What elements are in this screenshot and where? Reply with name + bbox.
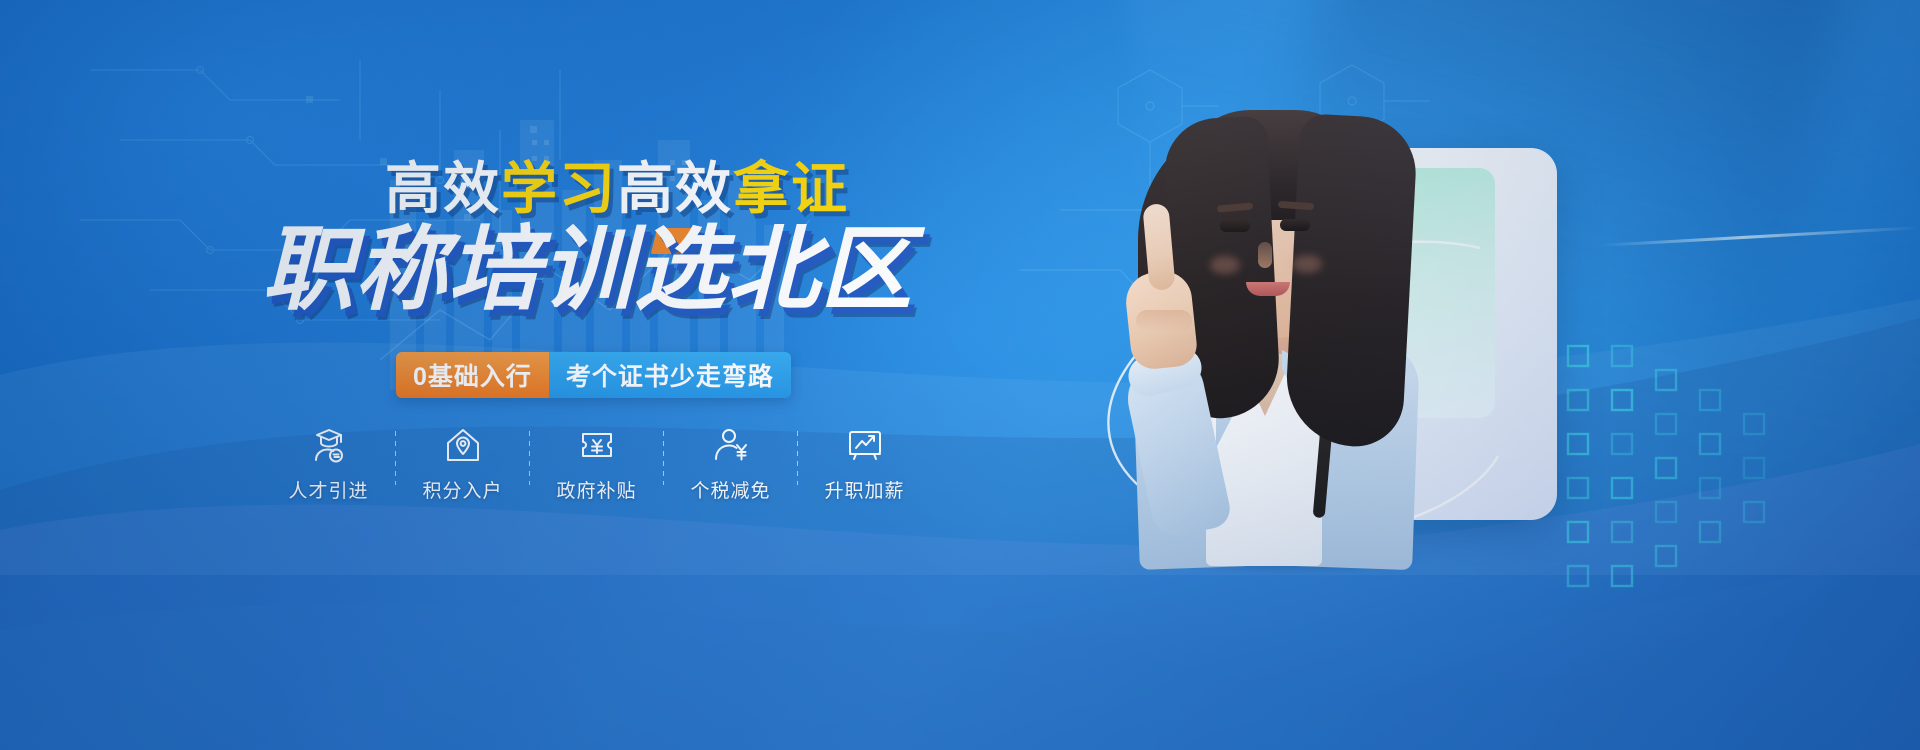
promo-banner: 高效学习高效拿证 职称培训选北区 0基础入行 考个证书少走弯路 bbox=[0, 0, 1920, 750]
vignette-overlay bbox=[0, 0, 1920, 750]
